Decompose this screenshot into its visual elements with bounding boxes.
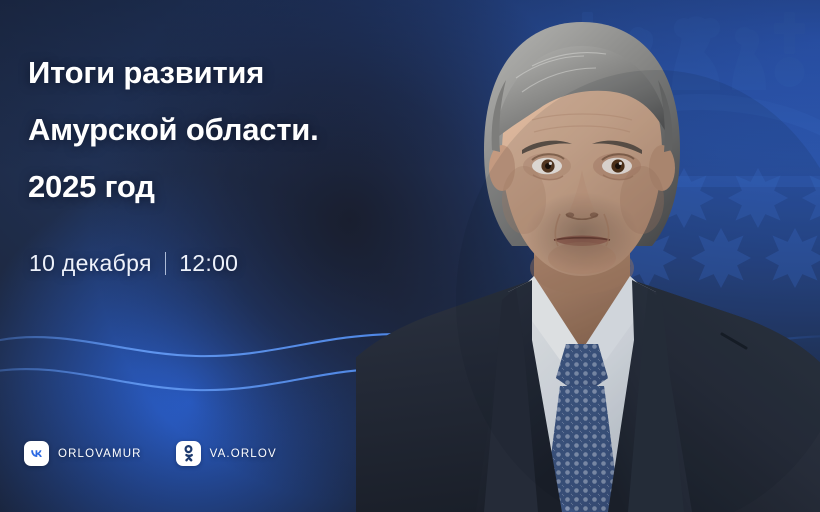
social-handle-vk: ORLOVAMUR [58, 448, 142, 460]
social-handle-odnoklassniki: VA.ORLOV [210, 448, 277, 460]
event-date: 10 декабря [29, 250, 152, 277]
event-datetime: 10 декабря 12:00 [29, 250, 238, 277]
social-link-vk[interactable]: ORLOVAMUR [24, 441, 142, 466]
datetime-separator [165, 252, 167, 275]
odnoklassniki-icon [176, 441, 201, 466]
social-link-odnoklassniki[interactable]: VA.ORLOV [176, 441, 277, 466]
event-announcement-banner: Итоги развития Амурской области. 2025 го… [0, 0, 820, 512]
social-links: ORLOVAMUR VA.ORLOV [24, 441, 277, 466]
event-time: 12:00 [179, 250, 238, 277]
vk-icon [24, 441, 49, 466]
page-title: Итоги развития Амурской области. 2025 го… [28, 44, 428, 215]
